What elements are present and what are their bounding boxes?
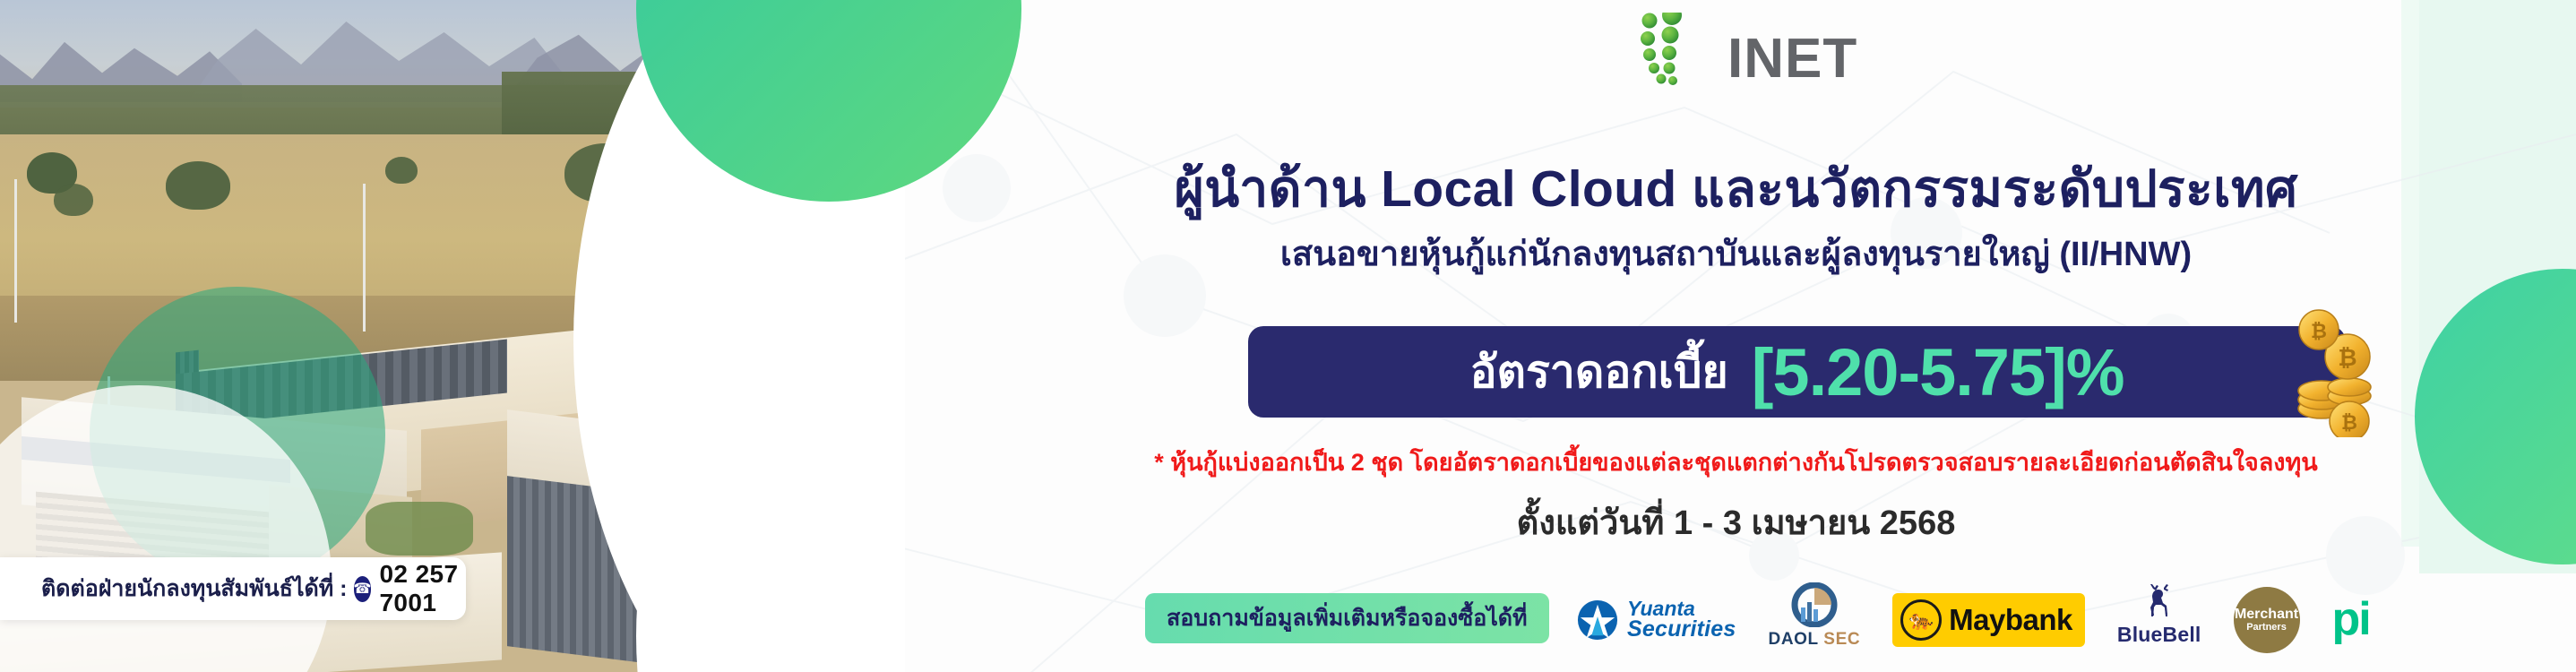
bluebell-deer-icon bbox=[2139, 582, 2180, 622]
interest-rate-label: อัตราดอกเบี้ย bbox=[1469, 337, 1727, 408]
maybank-wordmark: Maybank bbox=[1949, 603, 2072, 637]
interest-rate-value: [5.20-5.75]% bbox=[1752, 334, 2124, 410]
partner-logo-maybank[interactable]: 🐅 Maybank bbox=[1892, 582, 2085, 658]
page-title: ผู้นำด้าน Local Cloud และนวัตกรรมระดับปร… bbox=[896, 149, 2576, 229]
partner-logo-row: Yuanta Securities DAOL SEC 🐅 Maybank bbox=[1577, 581, 2370, 659]
partner-logo-merchant-partners[interactable]: Merchant Partners bbox=[2234, 582, 2300, 658]
yuanta-star-icon bbox=[1577, 599, 1618, 641]
daol-line2: SEC bbox=[1823, 630, 1860, 649]
merchant-line1: Merchant bbox=[2235, 607, 2298, 623]
svg-text:₿: ₿ bbox=[2341, 411, 2357, 434]
investor-relations-contact-card[interactable]: ติดต่อฝ่ายนักลงทุนสัมพันธ์ได้ที่ : ☎ 02 … bbox=[0, 557, 466, 620]
interest-rate-badge: อัตราดอกเบี้ย [5.20-5.75]% ₿ bbox=[1248, 326, 2346, 418]
yuanta-line2: Securities bbox=[1627, 619, 1736, 641]
merchant-circle-icon: Merchant Partners bbox=[2234, 587, 2300, 653]
contact-phone-number[interactable]: 02 257 7001 bbox=[379, 560, 466, 617]
contact-label: ติดต่อฝ่ายนักลงทุนสัมพันธ์ได้ที่ : bbox=[41, 571, 348, 607]
svg-text:₿: ₿ bbox=[2338, 344, 2356, 371]
inet-wordmark: INET bbox=[1727, 27, 1857, 90]
daol-circle-icon bbox=[1788, 582, 1840, 627]
inquiry-cta-label: สอบถามข้อมูลเพิ่มเติมหรือจองซื้อได้ที่ bbox=[1167, 600, 1528, 636]
maybank-tiger-icon: 🐅 bbox=[1900, 599, 1942, 641]
merchant-line2: Partners bbox=[2246, 623, 2287, 633]
partner-logo-yuanta[interactable]: Yuanta Securities bbox=[1577, 582, 1736, 658]
bond-disclaimer-text: * หุ้นกู้แบ่งออกเป็น 2 ชุด โดยอัตราดอกเบ… bbox=[896, 443, 2576, 481]
partner-logo-pi[interactable]: pi bbox=[2332, 582, 2370, 658]
promotional-banner: ติดต่อฝ่ายนักลงทุนสัมพันธ์ได้ที่ : ☎ 02 … bbox=[0, 0, 2576, 672]
page-subtitle: เสนอขายหุ้นกู้แก่นักลงทุนสถาบันและผู้ลงท… bbox=[896, 226, 2576, 280]
phone-icon: ☎ bbox=[354, 576, 372, 602]
pi-wordmark: pi bbox=[2332, 601, 2370, 639]
bluebell-wordmark: BlueBell bbox=[2117, 623, 2201, 647]
partner-logo-daol[interactable]: DAOL SEC bbox=[1769, 582, 1861, 658]
offering-period-text: ตั้งแต่วันที่ 1 - 3 เมษายน 2568 bbox=[896, 495, 2576, 549]
gold-coins-icon: ₿ ₿ ₿ bbox=[2272, 303, 2380, 437]
svg-text:₿: ₿ bbox=[2311, 320, 2327, 342]
inet-logo[interactable]: INET bbox=[1613, 13, 1962, 86]
inquiry-cta-button[interactable]: สอบถามข้อมูลเพิ่มเติมหรือจองซื้อได้ที่ bbox=[1145, 593, 1549, 643]
daol-line1: DAOL bbox=[1769, 630, 1819, 649]
partner-logo-bluebell[interactable]: BlueBell bbox=[2117, 582, 2201, 658]
inet-dots-icon bbox=[1613, 13, 1729, 86]
